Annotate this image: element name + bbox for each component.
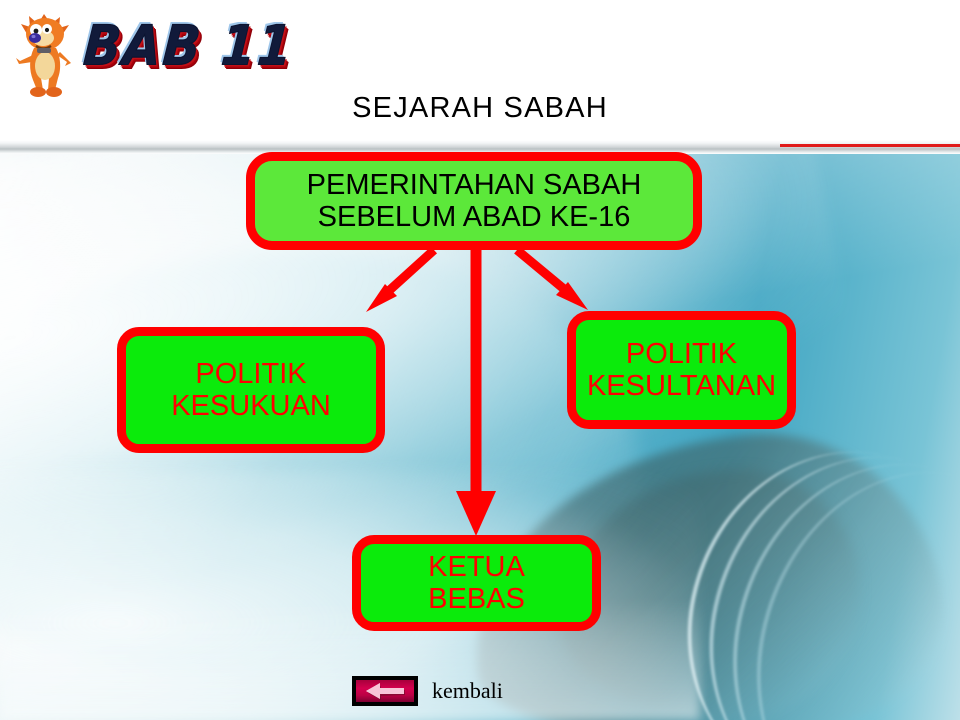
node-line-1: PEMERINTAHAN SABAH xyxy=(307,169,642,201)
back-button[interactable] xyxy=(352,676,418,706)
back-navigation[interactable]: kembali xyxy=(352,676,503,706)
node-line-1: POLITIK xyxy=(171,358,331,390)
back-button-label: kembali xyxy=(432,678,503,704)
node-pemerintahan-sabah[interactable]: PEMERINTAHAN SABAH SEBELUM ABAD KE-16 xyxy=(246,152,702,250)
node-line-2: SEBELUM ABAD KE-16 xyxy=(307,201,642,233)
presentation-slide: BAB 11 SEJARAH SABAH PEMERINTAHAN SABAH … xyxy=(0,0,960,720)
lion-mascot-icon xyxy=(10,8,82,100)
header-accent-bar xyxy=(780,144,960,147)
node-politik-kesukuan[interactable]: POLITIK KESUKUAN xyxy=(117,327,385,453)
page-title: SEJARAH SABAH xyxy=(0,92,960,125)
node-line-2: KESULTANAN xyxy=(587,370,776,402)
back-arrow-icon xyxy=(360,681,410,701)
node-line-2: BEBAS xyxy=(428,583,525,615)
chapter-wordart-title: BAB 11 xyxy=(82,14,296,78)
node-ketua-bebas[interactable]: KETUA BEBAS xyxy=(352,535,601,631)
node-politik-kesultanan[interactable]: POLITIK KESULTANAN xyxy=(567,311,796,429)
node-line-1: KETUA xyxy=(428,551,525,583)
node-line-2: KESUKUAN xyxy=(171,390,331,422)
node-line-1: POLITIK xyxy=(587,338,776,370)
